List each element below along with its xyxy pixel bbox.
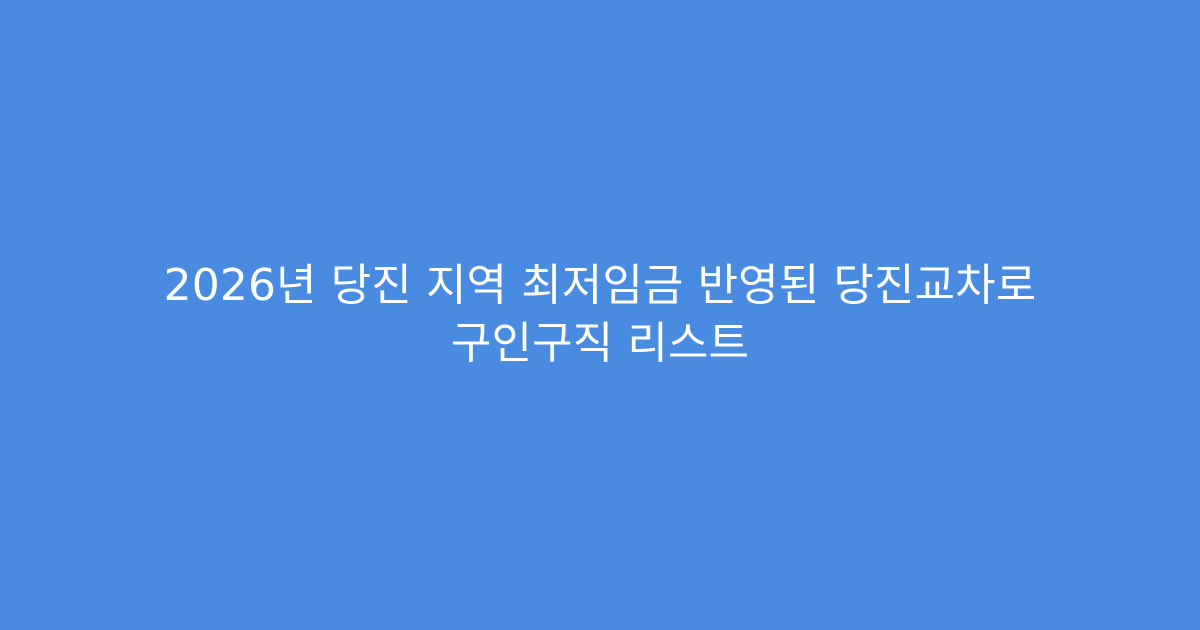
share-card: 2026년 당진 지역 최저임금 반영된 당진교차로 구인구직 리스트 (0, 0, 1200, 630)
page-title: 2026년 당진 지역 최저임금 반영된 당진교차로 구인구직 리스트 (95, 257, 1105, 373)
share-card-content: 2026년 당진 지역 최저임금 반영된 당진교차로 구인구직 리스트 (95, 257, 1105, 373)
